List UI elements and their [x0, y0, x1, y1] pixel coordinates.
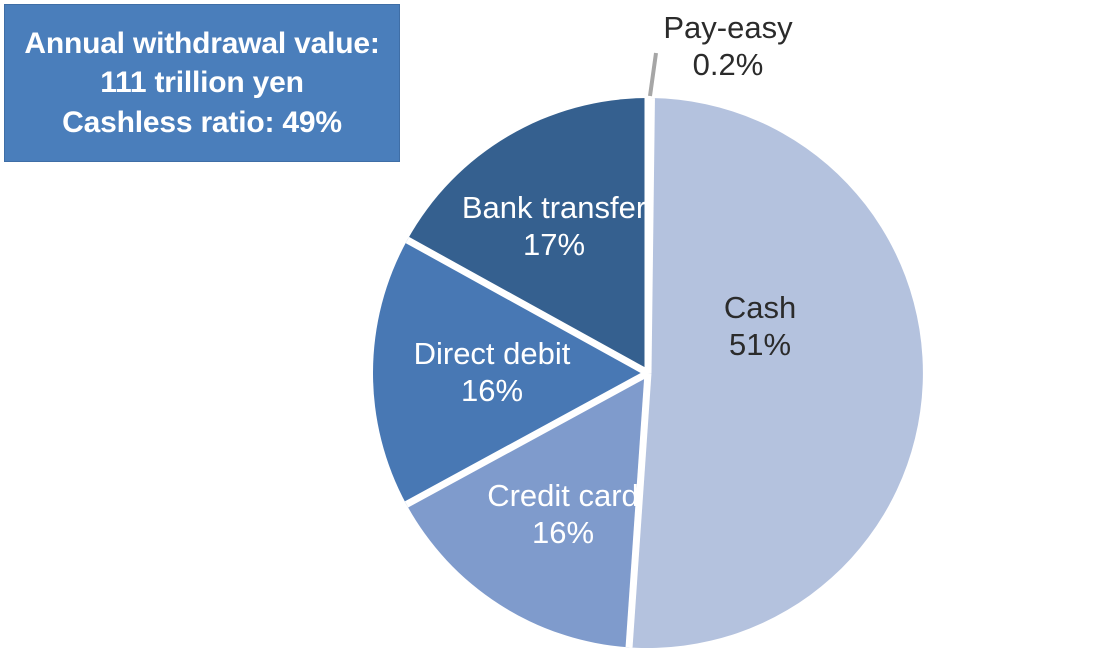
pie-svg [0, 0, 1120, 668]
pay-easy-leader-line [650, 53, 656, 96]
pie-chart-figure: Annual withdrawal value: 111 trillion ye… [0, 0, 1120, 668]
pie-slice-cash[interactable] [629, 98, 923, 648]
pie-separator [648, 98, 651, 373]
